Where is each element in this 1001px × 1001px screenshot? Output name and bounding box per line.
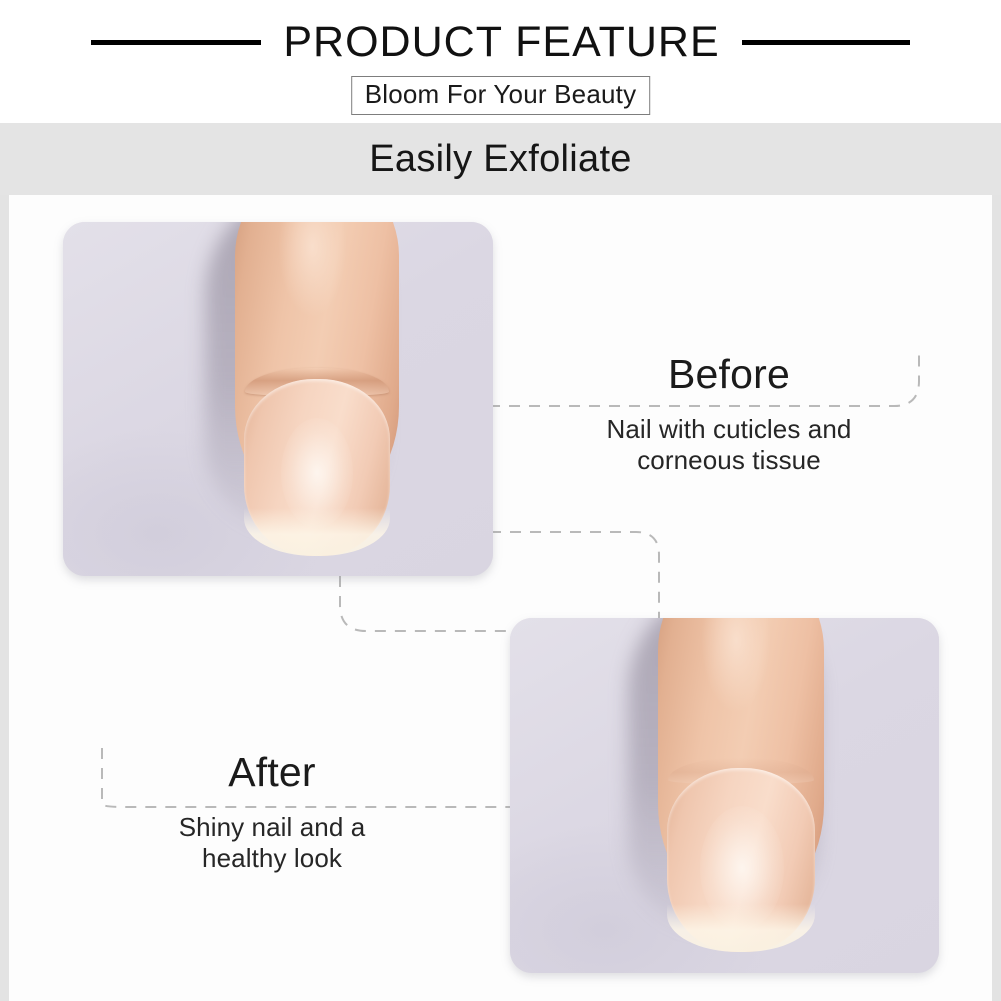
before-caption-line-2: corneous tissue [496, 445, 962, 476]
after-label: After [39, 751, 505, 794]
before-photo-card [63, 222, 493, 576]
middle-connector-line-upper [490, 532, 659, 619]
title-rule-left-decoration [91, 40, 261, 45]
title-row: PRODUCT FEATURE [0, 14, 1001, 70]
section-heading: Easily Exfoliate [369, 138, 631, 181]
header: PRODUCT FEATURE Bloom For Your Beauty [0, 0, 1001, 123]
before-caption: Nail with cuticles and corneous tissue [496, 414, 962, 475]
after-text-block: After Shiny nail and a healthy look [39, 751, 505, 873]
after-caption: Shiny nail and a healthy look [39, 812, 505, 873]
before-text-block: Before Nail with cuticles and corneous t… [496, 353, 962, 475]
page-frame-left [0, 123, 9, 1001]
before-caption-line-1: Nail with cuticles and [496, 414, 962, 445]
after-caption-line-2: healthy look [39, 843, 505, 874]
middle-connector-line-lower [340, 576, 511, 631]
subtitle-text: Bloom For Your Beauty [365, 79, 637, 110]
after-photo-card [510, 618, 939, 973]
title-rule-right-decoration [742, 40, 910, 45]
subtitle-box: Bloom For Your Beauty [351, 76, 651, 115]
after-caption-line-1: Shiny nail and a [39, 812, 505, 843]
page-title: PRODUCT FEATURE [283, 18, 719, 67]
before-label: Before [496, 353, 962, 396]
comparison-area: Before Nail with cuticles and corneous t… [9, 195, 992, 1001]
section-banner: Easily Exfoliate [0, 123, 1001, 195]
page-frame-right [992, 123, 1001, 1001]
product-feature-infographic: PRODUCT FEATURE Bloom For Your Beauty Ea… [0, 0, 1001, 1001]
